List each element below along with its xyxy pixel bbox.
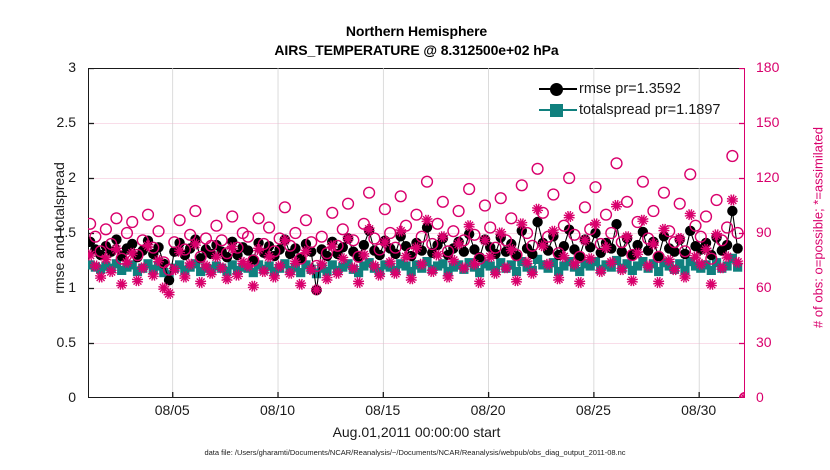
y-axis-right-tick-label: 150 (756, 114, 779, 130)
legend-entry-rmse: rmse pr=1.3592 (537, 78, 720, 99)
y-axis-right-tick-label: 60 (756, 279, 772, 295)
legend-label-totalspread: totalspread pr=1.1897 (579, 102, 720, 118)
y-axis-left-tick-label: 0.5 (16, 334, 76, 350)
y-axis-right-tick-label: 120 (756, 169, 779, 185)
chart-legend: rmse pr=1.3592 totalspread pr=1.1897 (537, 78, 720, 120)
y-axis-left-tick-label: 1 (16, 279, 76, 295)
y-axis-right-tick-label: 0 (756, 389, 764, 405)
chart-title-line-2: AIRS_TEMPERATURE @ 8.312500e+02 hPa (88, 41, 745, 60)
y-axis-left-tick-label: 3 (16, 59, 76, 75)
y-axis-left-tick-label: 2 (16, 169, 76, 185)
x-axis-tick-label: 08/25 (553, 402, 633, 418)
data-file-note: data file: /Users/gharamti/Documents/NCA… (0, 448, 830, 457)
legend-marker-rmse-icon (537, 80, 579, 98)
y-axis-left-tick-label: 2.5 (16, 114, 76, 130)
y-axis-right-tick-label: 90 (756, 224, 772, 240)
legend-entry-totalspread: totalspread pr=1.1897 (537, 99, 720, 120)
x-axis-tick-label: 08/15 (343, 402, 423, 418)
x-axis-tick-label: 08/30 (659, 402, 739, 418)
y-axis-right-label: # of obs: o=possible; *=assimilated (811, 63, 826, 393)
x-axis-tick-label: 08/20 (448, 402, 528, 418)
y-axis-left-tick-label: 1.5 (16, 224, 76, 240)
y-axis-left-label: rmse and totalspread (51, 63, 67, 393)
x-axis-label: Aug.01,2011 00:00:00 start (88, 424, 745, 440)
legend-marker-totalspread-icon (537, 101, 579, 119)
plot-figure: Northern Hemisphere AIRS_TEMPERATURE @ 8… (0, 0, 830, 470)
y-axis-right-tick-label: 30 (756, 334, 772, 350)
chart-title: Northern Hemisphere AIRS_TEMPERATURE @ 8… (88, 22, 745, 60)
y-axis-left-tick-label: 0 (16, 389, 76, 405)
x-axis-tick-label: 08/10 (238, 402, 318, 418)
x-axis-tick-label: 08/05 (132, 402, 212, 418)
y-axis-right-tick-label: 180 (756, 59, 779, 75)
chart-title-line-1: Northern Hemisphere (88, 22, 745, 41)
legend-label-rmse: rmse pr=1.3592 (579, 81, 681, 97)
